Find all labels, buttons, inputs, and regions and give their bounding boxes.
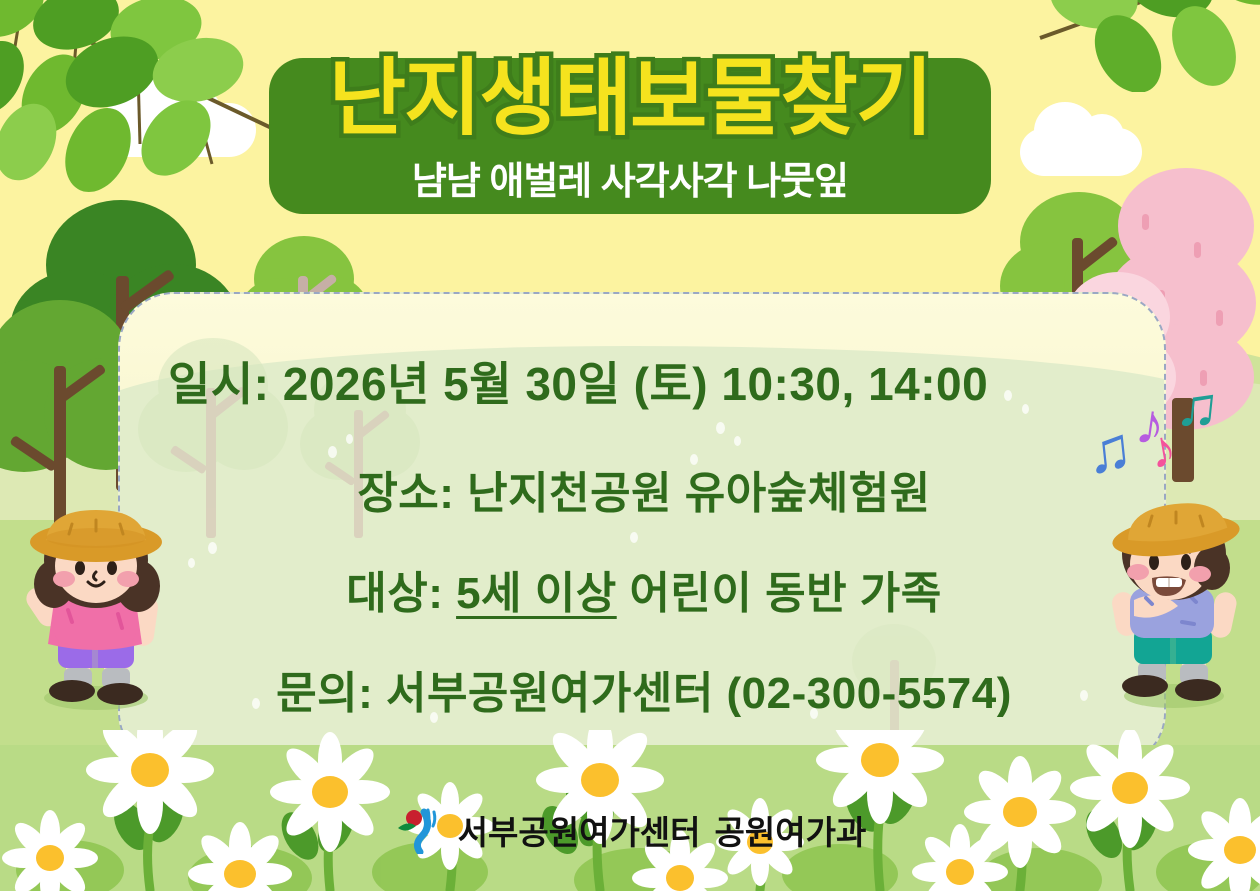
info-panel: 일시: 2026년 5월 30일 (토) 10:30, 14:00 장소: 난지… [118, 292, 1166, 768]
info-list: 일시: 2026년 5월 30일 (토) 10:30, 14:00 장소: 난지… [120, 294, 1166, 768]
poster-title: 난지생태보물찾기 [269, 46, 991, 150]
audience-prefix: 대상: [346, 569, 456, 618]
event-poster: 난지생태보물찾기 냠냠 애벌레 사각사각 나뭇잎 [0, 0, 1260, 891]
info-line-datetime: 일시: 2026년 5월 30일 (토) 10:30, 14:00 [120, 356, 1166, 412]
cloud-icon [1020, 128, 1142, 176]
music-note-teal-icon: ♫ [1173, 376, 1222, 438]
footer: 서부공원여가센터 공원여가과 [0, 798, 1260, 862]
seoul-city-logo [394, 806, 444, 854]
footer-organization: 서부공원여가센터 [458, 806, 701, 854]
boy-character [1090, 496, 1255, 711]
audience-highlight: 5세 이상 [456, 569, 617, 618]
footer-department: 공원여가과 [715, 806, 867, 854]
audience-rest: 어린이 동반 가족 [617, 569, 942, 618]
music-note-blue-icon: ♫ [1083, 418, 1136, 485]
girl-character [10, 498, 180, 713]
info-line-audience: 대상: 5세 이상 어린이 동반 가족 [120, 566, 1166, 622]
cloud-icon [96, 103, 256, 157]
info-line-contact: 문의: 서부공원여가센터 (02-300-5574) [120, 666, 1166, 722]
poster-subtitle: 냠냠 애벌레 사각사각 나뭇잎 [269, 158, 991, 206]
info-line-location: 장소: 난지천공원 유아숲체험원 [120, 466, 1166, 522]
